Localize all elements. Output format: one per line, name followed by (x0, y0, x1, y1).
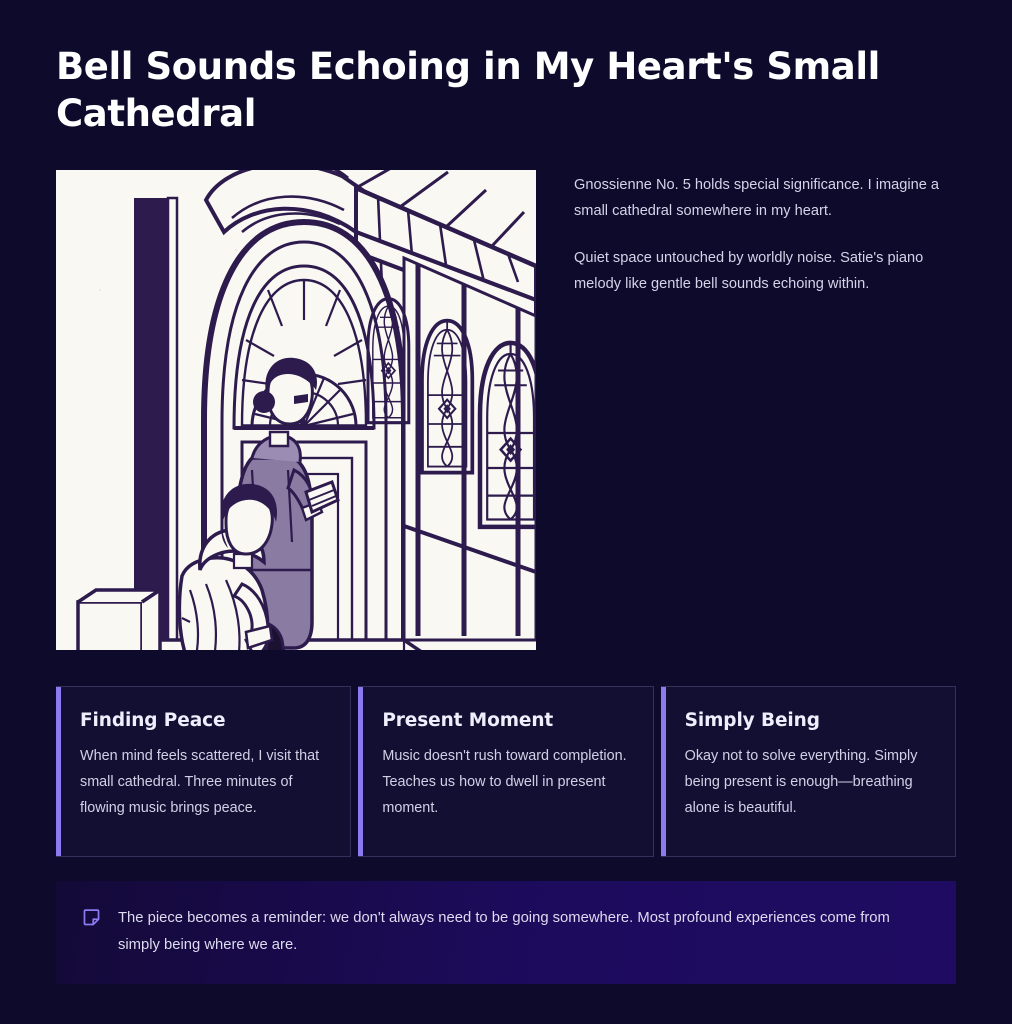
cathedral-doorway-illustration (56, 170, 536, 650)
hero-section: Gnossienne No. 5 holds special significa… (56, 170, 956, 650)
card-title: Finding Peace (80, 710, 328, 731)
hero-copy: Gnossienne No. 5 holds special significa… (574, 170, 949, 298)
page-root: Bell Sounds Echoing in My Heart's Small … (0, 0, 1012, 1024)
cards-row: Finding Peace When mind feels scattered,… (56, 686, 956, 857)
card-title: Simply Being (685, 710, 933, 731)
callout-text: The piece becomes a reminder: we don't a… (118, 905, 928, 958)
card-body: When mind feels scattered, I visit that … (80, 744, 328, 821)
note-icon (82, 908, 101, 927)
card-present-moment: Present Moment Music doesn't rush toward… (358, 686, 653, 857)
card-accent-bar (661, 687, 666, 856)
callout-banner: The piece becomes a reminder: we don't a… (56, 881, 956, 984)
card-body: Music doesn't rush toward completion. Te… (382, 744, 630, 821)
card-simply-being: Simply Being Okay not to solve everythin… (661, 686, 956, 857)
card-title: Present Moment (382, 710, 630, 731)
hero-paragraph-1: Gnossienne No. 5 holds special significa… (574, 173, 949, 225)
card-finding-peace: Finding Peace When mind feels scattered,… (56, 686, 351, 857)
card-body: Okay not to solve everything. Simply bei… (685, 744, 933, 821)
hero-paragraph-2: Quiet space untouched by worldly noise. … (574, 246, 949, 298)
card-accent-bar (358, 687, 363, 856)
page-title: Bell Sounds Echoing in My Heart's Small … (56, 44, 916, 137)
card-accent-bar (56, 687, 61, 856)
